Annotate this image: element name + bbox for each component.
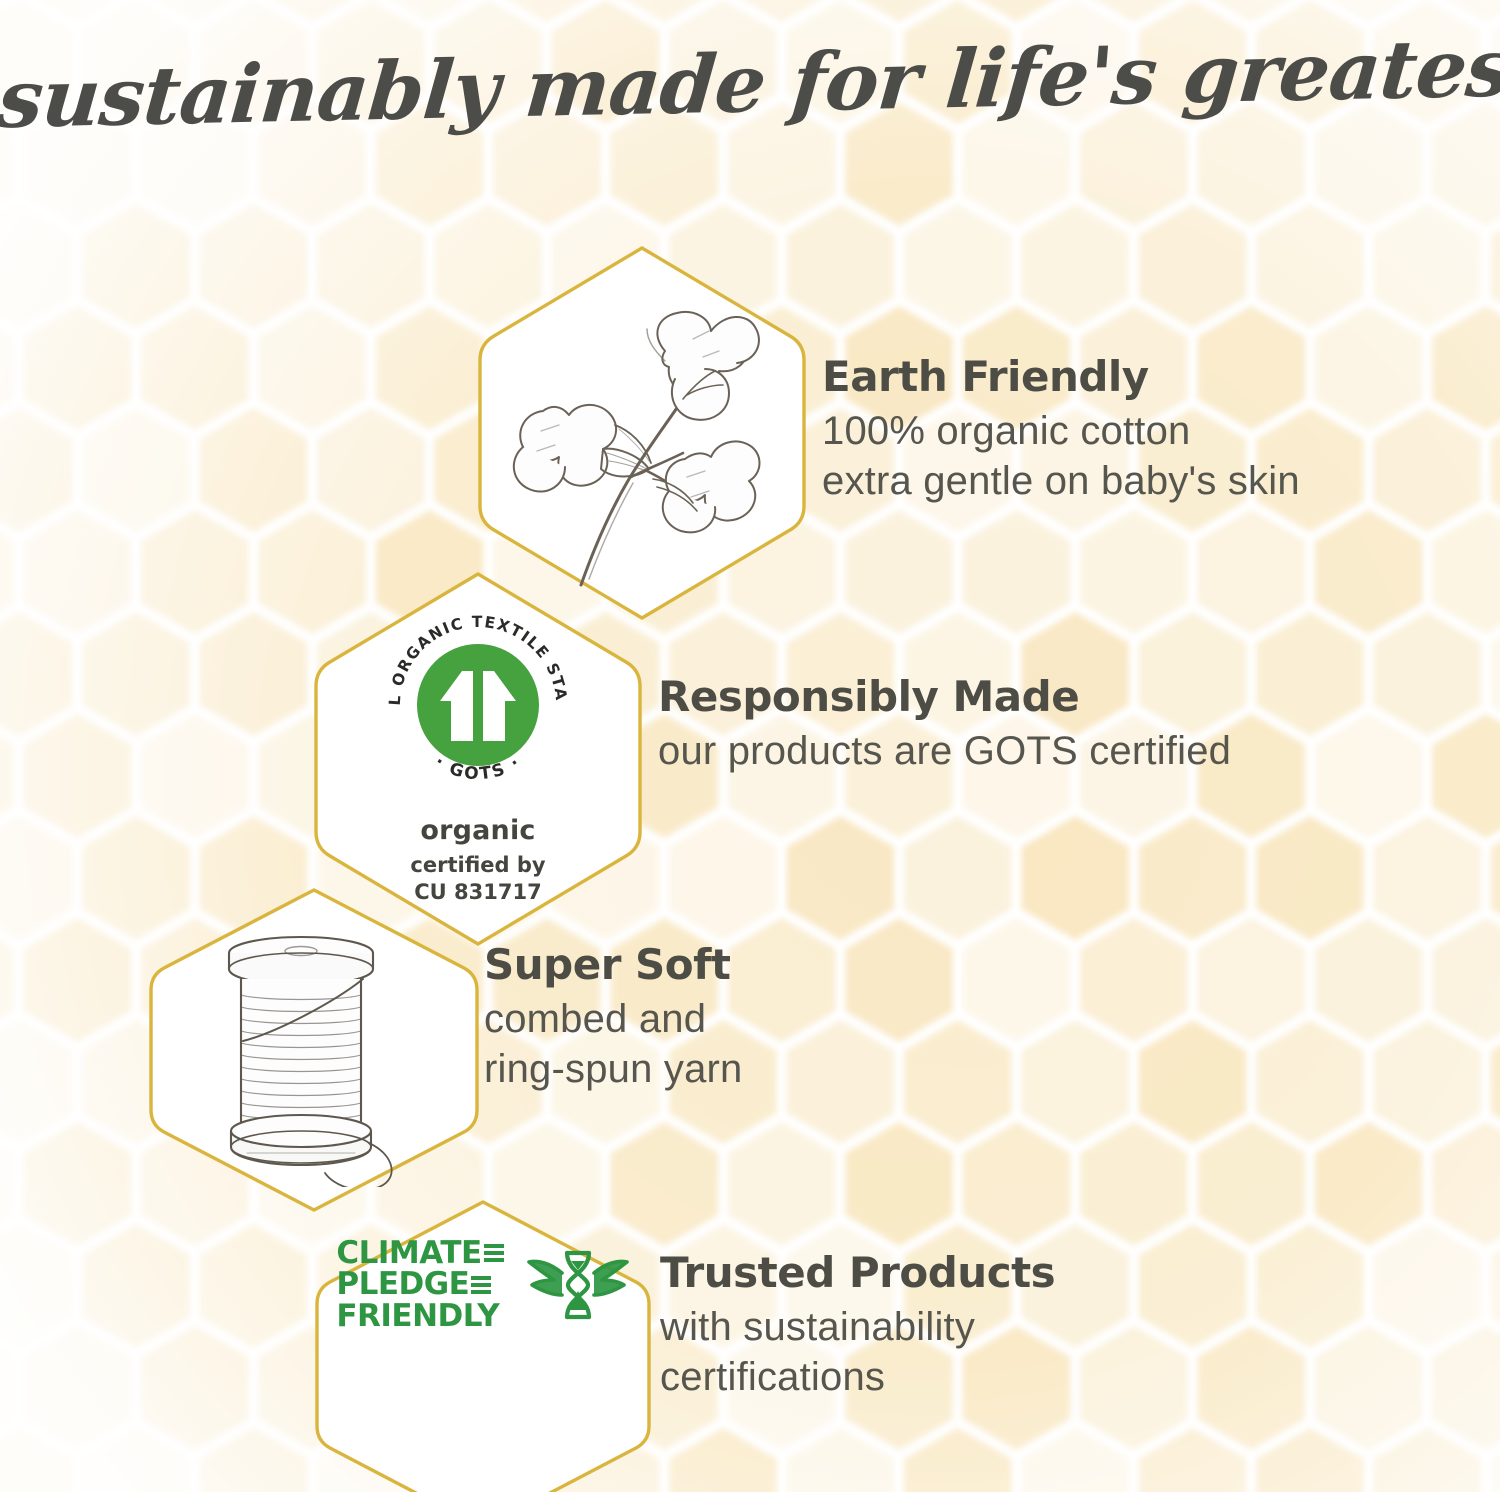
feature-text-trusted-products: Trusted Products with sustainability cer… xyxy=(660,1248,1055,1402)
cpf-line-3: FRIENDLY xyxy=(336,1301,499,1333)
feature-line: ring-spun yarn xyxy=(484,1044,742,1094)
feature-hexagon-trusted-products: CLIMATE PLEDGE FRIENDLY xyxy=(310,1196,656,1492)
feature-text-super-soft: Super Soft combed and ring-spun yarn xyxy=(484,940,742,1094)
feature-line: extra gentle on baby's skin xyxy=(822,456,1300,506)
thread-spool-sketch-icon xyxy=(183,917,433,1187)
feature-title: Responsibly Made xyxy=(658,672,1231,722)
climate-pledge-friendly-logo: CLIMATE PLEDGE FRIENDLY xyxy=(336,1237,629,1333)
hexagon-icon-slot: CLIMATE PLEDGE FRIENDLY xyxy=(310,1196,656,1374)
feature-hexagon-super-soft xyxy=(144,884,484,1216)
page-title: sustainably made for life's greatest joy… xyxy=(0,16,1500,146)
gots-organic-label: organic xyxy=(420,815,535,846)
headline-banner: sustainably made for life's greatest joy… xyxy=(0,34,1500,128)
winged-hourglass-icon xyxy=(526,1237,630,1333)
feature-line: with sustainability xyxy=(660,1302,1055,1352)
feature-line: certifications xyxy=(660,1352,1055,1402)
gots-certified-by: certified by xyxy=(410,853,545,877)
cotton-plant-sketch-icon xyxy=(497,273,787,593)
feature-title: Trusted Products xyxy=(660,1248,1055,1298)
feature-line: 100% organic cotton xyxy=(822,406,1300,456)
gots-seal-icon: GLOBAL ORGANIC TEXTILE STANDARD · GOTS · xyxy=(378,605,578,805)
feature-title: Super Soft xyxy=(484,940,742,990)
cpf-line-2: PLEDGE xyxy=(336,1269,469,1301)
feature-title: Earth Friendly xyxy=(822,352,1300,402)
feature-line: combed and xyxy=(484,994,742,1044)
gots-logo: GLOBAL ORGANIC TEXTILE STANDARD · GOTS ·… xyxy=(378,605,578,906)
climate-pledge-wordmark: CLIMATE PLEDGE FRIENDLY xyxy=(336,1238,503,1333)
cpf-bars-icon xyxy=(484,1244,504,1262)
cpf-line-1: CLIMATE xyxy=(336,1238,481,1270)
feature-text-earth-friendly: Earth Friendly 100% organic cotton extra… xyxy=(822,352,1300,506)
feature-text-responsibly-made: Responsibly Made our products are GOTS c… xyxy=(658,672,1231,776)
hexagon-icon-slot xyxy=(144,884,484,1216)
headline-text: sustainably made for life's greatest joy xyxy=(0,17,1500,147)
feature-line: our products are GOTS certified xyxy=(658,726,1231,776)
cpf-bars-icon xyxy=(471,1276,491,1294)
